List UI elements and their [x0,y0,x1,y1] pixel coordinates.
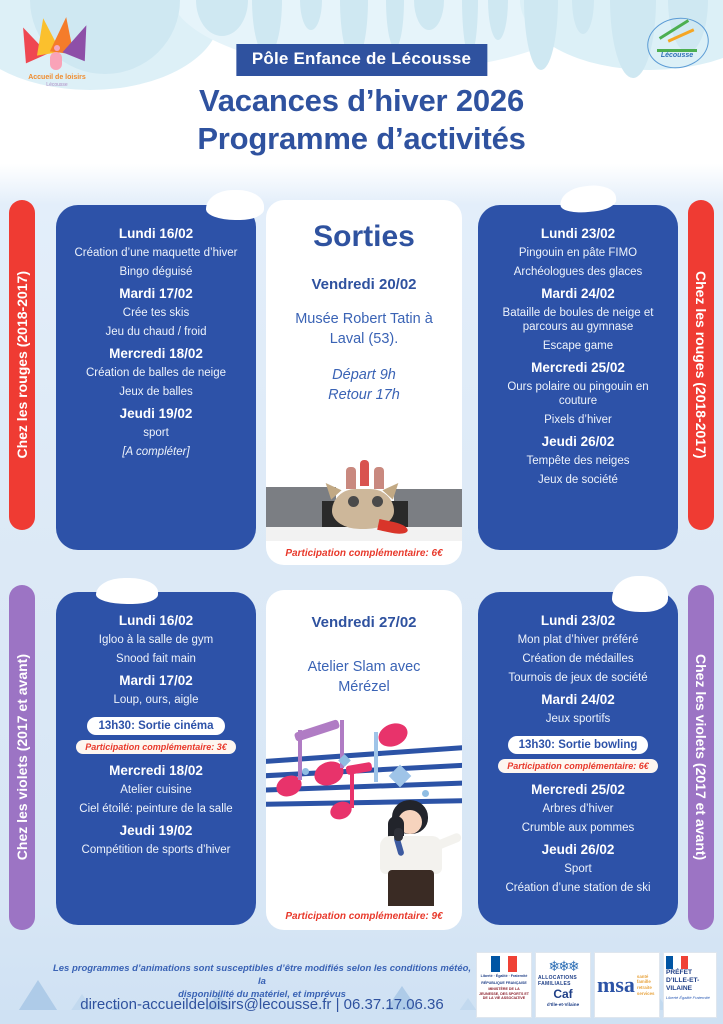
activity-item: Tempête des neiges [496,454,660,468]
activity-item: Création d’une maquette d’hiver [74,246,238,260]
day-heading: Mardi 17/02 [68,673,244,688]
fee-badge: Participation complémentaire: 3€ [76,740,236,754]
msa-logo-mark: msa [597,972,635,998]
outing1-return: Retour 17h [266,385,462,405]
ministere-logo-line3: MINISTÈRE DE LA JEUNESSE, DES SPORTS ET … [479,987,529,1001]
msa-logo: msa santé famille retraite services [594,952,660,1018]
activity-item: Loup, ours, aigle [74,693,238,707]
day-heading: Lundi 16/02 [68,613,244,628]
activity-item: Compétition de sports d’hiver [74,843,238,857]
activity-item: Snood fait main [74,652,238,666]
snow-cap-icon [96,578,158,604]
activity-item: Atelier cuisine [74,783,238,797]
activity-item: Sport [496,862,660,876]
day-heading: Mardi 24/02 [490,692,666,707]
activity-item: Pingouin en pâte FIMO [496,246,660,260]
activity-item: Jeux sportifs [496,712,660,726]
day-heading: Mercredi 25/02 [490,782,666,797]
outing1-fee: Participation complémentaire: 6€ [266,548,462,559]
outing2-fee: Participation complémentaire: 9€ [266,911,462,922]
activity-panel-violets-week1: Lundi 16/02Igloo à la salle de gymSnood … [56,592,256,925]
activity-panel-rouges-week2: Lundi 23/02Pingouin en pâte FIMOArchéolo… [478,205,678,550]
ministere-logo: Liberté · Égalité · Fraternité RÉPUBLIQU… [476,952,532,1018]
prefet-logo-line1: PRÉFET D’ILLE-ET-VILAINE [666,969,714,993]
activity-item: Crée tes skis [74,306,238,320]
activity-item: Archéologues des glaces [496,265,660,279]
sidebar-tab-rouges-right: Chez les rouges (2018-2017) [688,200,714,530]
activity-item: Bataille de boules de neige et parcours … [496,306,660,334]
logo-left-text: Accueil de loisirs [14,74,100,81]
activity-item: Arbres d’hiver [496,802,660,816]
activity-panel-rouges-week1: Lundi 16/02Création d’une maquette d’hiv… [56,205,256,550]
outing1-place: Musée Robert Tatin à Laval (53). [282,309,446,349]
ministere-logo-line2: RÉPUBLIQUE FRANÇAISE [481,981,527,986]
day-heading: Mardi 17/02 [68,286,244,301]
fee-badge: Participation complémentaire: 6€ [498,759,658,773]
tab-label: Chez les violets (2017 et avant) [693,654,709,860]
outing1-date: Vendredi 20/02 [266,276,462,293]
slam-music-illustration [266,706,462,906]
activity-item: Mon plat d’hiver préféré [496,633,660,647]
tab-label: Chez les rouges (2018-2017) [14,271,30,459]
caf-logo: ❄❄❄ ALLOCATIONS FAMILIALES Caf d’Ille-et… [535,952,591,1018]
title-line-1: Vacances d’hiver 2026 [0,82,723,120]
caf-logo-line3: d’Ille-et-Vilaine [547,1003,579,1008]
logo-right-text: Lécousse [649,52,705,59]
day-heading: Mardi 24/02 [490,286,666,301]
snow-cap-icon [612,576,668,612]
singer-illustration [370,800,452,906]
sidebar-tab-violets-left: Chez les violets (2017 et avant) [9,585,35,930]
musee-robert-tatin-photo [266,451,462,541]
snowflake-icon: ❄❄❄ [548,958,577,975]
activity-item: Igloo à la salle de gym [74,633,238,647]
activity-item: Jeu du chaud / froid [74,325,238,339]
activity-item: Pixels d’hiver [496,413,660,427]
activity-panel-violets-week2: Lundi 23/02Mon plat d’hiver préféréCréat… [478,592,678,925]
day-heading: Lundi 16/02 [68,226,244,241]
activity-item: [A compléter] [74,445,238,459]
sorties-heading: Sorties [266,220,462,254]
day-heading: Mercredi 18/02 [68,763,244,778]
tab-label: Chez les rouges (2018-2017) [693,271,709,459]
activity-item: Création de balles de neige [74,366,238,380]
sorties-card-bottom: Vendredi 27/02 Atelier Slam avec Mérézel [266,590,462,930]
prefet-ille-et-vilaine-logo: PRÉFET D’ILLE-ET-VILAINE Liberté Égalité… [663,952,717,1018]
activity-item: Bingo déguisé [74,265,238,279]
activity-item: Création d’une station de ski [496,881,660,895]
prefet-logo-line2: Liberté Égalité Fraternité [666,995,710,1000]
activity-item: Crumble aux pommes [496,821,660,835]
caf-logo-line2: Caf [553,987,572,1001]
caf-logo-line1: ALLOCATIONS FAMILIALES [538,975,588,987]
ribbon-pole-enfance: Pôle Enfance de Lécousse [236,44,487,76]
sidebar-tab-rouges-left: Chez les rouges (2018-2017) [9,200,35,530]
sorties-card-top: Sorties Vendredi 20/02 Musée Robert Tati… [266,200,462,565]
activity-item: sport [74,426,238,440]
ministere-logo-line1: Liberté · Égalité · Fraternité [481,974,528,979]
activity-item: Escape game [496,339,660,353]
activity-item: Ours polaire ou pingouin en couture [496,380,660,408]
outing-pill: 13h30: Sortie bowling [508,736,649,754]
poster-root: Accueil de loisirs Lécousse Lécousse Pôl… [0,0,723,1024]
day-heading: Mercredi 18/02 [68,346,244,361]
snow-cap-icon [206,190,264,220]
activity-item: Création de médailles [496,652,660,666]
outing2-date: Vendredi 27/02 [266,614,462,631]
page-title: Vacances d’hiver 2026 Programme d’activi… [0,82,723,158]
sidebar-tab-violets-right: Chez les violets (2017 et avant) [688,585,714,930]
tab-label: Chez les violets (2017 et avant) [14,654,30,860]
footer-contact: direction-accueildeloisirs@lecousse.fr |… [52,996,472,1013]
day-heading: Mercredi 25/02 [490,360,666,375]
lecousse-town-logo: Lécousse [645,16,711,82]
day-heading: Lundi 23/02 [490,613,666,628]
outing-pill: 13h30: Sortie cinéma [87,717,224,735]
day-heading: Jeudi 19/02 [68,406,244,421]
day-heading: Jeudi 26/02 [490,842,666,857]
msa-logo-services: santé famille retraite services [637,974,657,996]
activity-item: Ciel étoilé: peinture de la salle [74,802,238,816]
outing1-depart: Départ 9h [266,365,462,385]
day-heading: Lundi 23/02 [490,226,666,241]
partner-logos: Liberté · Égalité · Fraternité RÉPUBLIQU… [476,952,717,1018]
outing2-place: Atelier Slam avec Mérézel [282,657,446,697]
activity-item: Tournois de jeux de société [496,671,660,685]
day-heading: Jeudi 19/02 [68,823,244,838]
day-heading: Jeudi 26/02 [490,434,666,449]
footer-disclaimer-line-1: Les programmes d’animations sont suscept… [52,962,472,988]
title-line-2: Programme d’activités [0,120,723,158]
activity-item: Jeux de société [496,473,660,487]
activity-item: Jeux de balles [74,385,238,399]
